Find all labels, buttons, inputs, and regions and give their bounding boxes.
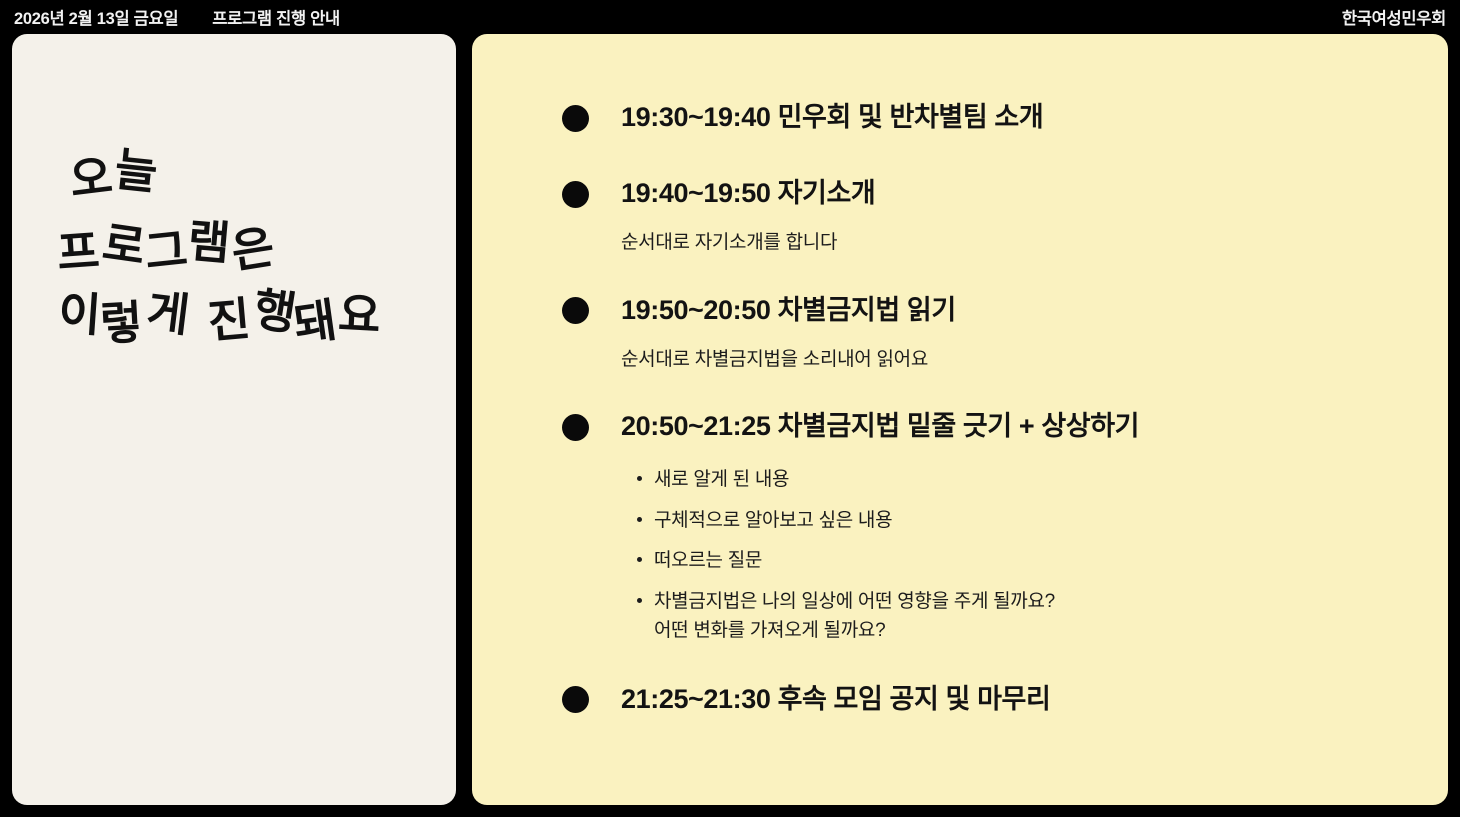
- agenda-item-title: 19:50~20:50 차별금지법 읽기: [621, 294, 956, 328]
- agenda-item-header: 21:25~21:30 후속 모임 공지 및 마무리: [562, 677, 1432, 721]
- agenda-item: 20:50~21:25 차별금지법 밑줄 긋기 + 상상하기 새로 알게 된 내…: [562, 405, 1432, 645]
- small-dot-bullet-icon: [637, 517, 642, 522]
- agenda-item-description: 순서대로 차별금지법을 소리내어 읽어요: [621, 347, 1432, 374]
- agenda-item-description: 순서대로 자기소개를 합니다: [621, 230, 1432, 257]
- title-line-2: 프로그램은: [58, 224, 428, 270]
- agenda-item: 21:25~21:30 후속 모임 공지 및 마무리: [562, 677, 1432, 721]
- left-title-panel: 오늘 프로그램은 이렇게 진행돼요: [12, 34, 456, 805]
- agenda-item: 19:50~20:50 차별금지법 읽기 순서대로 차별금지법을 소리내어 읽어…: [562, 289, 1432, 374]
- title-line-3: 이렇게 진행돼요: [58, 294, 428, 340]
- small-dot-bullet-icon: [637, 557, 642, 562]
- agenda-item-header: 19:30~19:40 민우회 및 반차별팀 소개: [562, 96, 1432, 140]
- agenda-sub-item: 떠오르는 질문: [637, 546, 1432, 575]
- agenda-item-title: 20:50~21:25 차별금지법 밑줄 긋기 + 상상하기: [621, 410, 1139, 444]
- filled-circle-bullet-icon: [562, 297, 589, 324]
- agenda-sub-item-text: 차별금지법은 나의 일상에 어떤 영향을 주게 될까요? 어떤 변화를 가져오게…: [654, 587, 1055, 646]
- filled-circle-bullet-icon: [562, 105, 589, 132]
- slide-title-block: 오늘 프로그램은 이렇게 진행돼요: [58, 152, 428, 340]
- agenda-item-header: 20:50~21:25 차별금지법 밑줄 긋기 + 상상하기: [562, 405, 1432, 449]
- agenda-sub-item: 구체적으로 알아보고 싶은 내용: [637, 506, 1432, 535]
- agenda-sub-item: 차별금지법은 나의 일상에 어떤 영향을 주게 될까요? 어떤 변화를 가져오게…: [637, 587, 1432, 646]
- agenda-item-title: 21:25~21:30 후속 모임 공지 및 마무리: [621, 683, 1050, 717]
- agenda-sub-item-text-line-2: 어떤 변화를 가져오게 될까요?: [654, 616, 1055, 645]
- agenda-item: 19:40~19:50 자기소개 순서대로 자기소개를 합니다: [562, 172, 1432, 257]
- agenda-sub-item: 새로 알게 된 내용: [637, 465, 1432, 494]
- small-dot-bullet-icon: [637, 476, 642, 481]
- filled-circle-bullet-icon: [562, 414, 589, 441]
- agenda-item-header: 19:40~19:50 자기소개: [562, 172, 1432, 216]
- filled-circle-bullet-icon: [562, 686, 589, 713]
- agenda-sub-list: 새로 알게 된 내용 구체적으로 알아보고 싶은 내용 떠오르는 질문 차별금지…: [637, 465, 1432, 645]
- slide-stage: 오늘 프로그램은 이렇게 진행돼요 19:30~19:40 민우회 및 반차별팀…: [0, 0, 1460, 817]
- filled-circle-bullet-icon: [562, 181, 589, 208]
- agenda-item-title: 19:40~19:50 자기소개: [621, 177, 875, 211]
- agenda-sub-item-text-line-1: 차별금지법은 나의 일상에 어떤 영향을 주게 될까요?: [654, 587, 1055, 616]
- agenda-item-header: 19:50~20:50 차별금지법 읽기: [562, 289, 1432, 333]
- title-line-1: 오늘: [70, 152, 428, 198]
- agenda-list: 19:30~19:40 민우회 및 반차별팀 소개 19:40~19:50 자기…: [562, 96, 1432, 721]
- agenda-sub-item-text: 구체적으로 알아보고 싶은 내용: [654, 506, 892, 535]
- agenda-item: 19:30~19:40 민우회 및 반차별팀 소개: [562, 96, 1432, 140]
- small-dot-bullet-icon: [637, 598, 642, 603]
- right-agenda-panel: 19:30~19:40 민우회 및 반차별팀 소개 19:40~19:50 자기…: [472, 34, 1448, 805]
- agenda-sub-item-text: 떠오르는 질문: [654, 546, 762, 575]
- agenda-item-title: 19:30~19:40 민우회 및 반차별팀 소개: [621, 101, 1043, 135]
- agenda-sub-item-text: 새로 알게 된 내용: [654, 465, 789, 494]
